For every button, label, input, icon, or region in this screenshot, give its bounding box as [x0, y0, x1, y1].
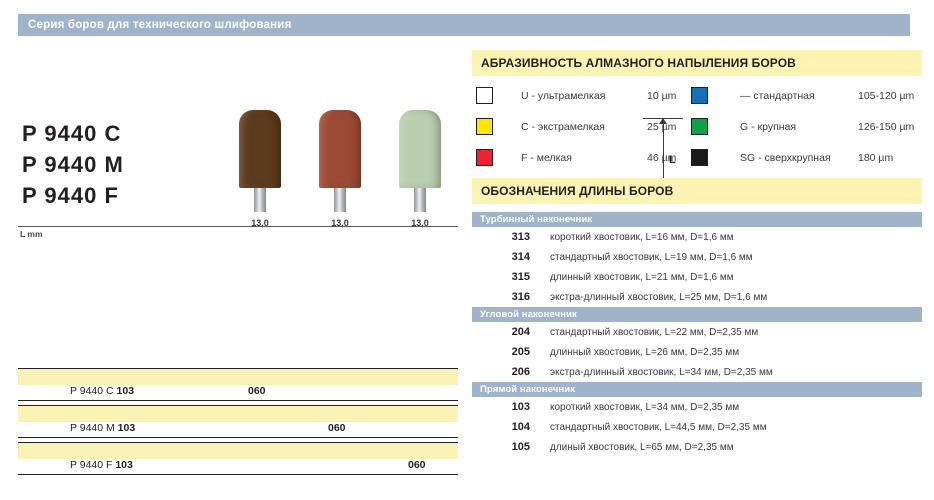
length-code: 314 [472, 251, 530, 263]
section-title: Угловой наконечник [472, 309, 577, 320]
row-size-value: 060 [408, 459, 426, 471]
legend-entry-supercoarse: SG - сверхкрупная 180 µm [687, 149, 926, 166]
section-title: Турбинный наконечник [472, 214, 592, 225]
lengths-title: ОБОЗНАЧЕНИЯ ДЛИНЫ БОРОВ [472, 184, 673, 198]
length-code: 105 [472, 441, 530, 453]
row-product-name: P 9440 C 103 [70, 385, 134, 397]
bur-shank-f [414, 188, 426, 212]
bur-head-f [399, 110, 441, 188]
length-code: 315 [472, 271, 530, 283]
row-product-name: P 9440 F 103 [70, 459, 133, 471]
product-code-m: P 9440 M [22, 149, 124, 180]
product-code-c: P 9440 C [22, 118, 124, 149]
section-header-turbine: Турбинный наконечник [472, 212, 922, 227]
table-row[interactable]: P 9440 M 103 060 [18, 405, 458, 438]
abrasiveness-title-bar: АБРАЗИВНОСТЬ АЛМАЗНОГО НАПЫЛЕНИЯ БОРОВ [472, 50, 922, 76]
row-size-value: 060 [328, 422, 346, 434]
length-description: длинный хвостовик, L=26 мм, D=2,35 мм [530, 347, 739, 358]
list-item[interactable]: 206 экстра-длинный хвостовик, L=34 мм, D… [472, 362, 922, 382]
product-code-list: P 9440 C P 9440 M P 9440 F [22, 118, 124, 211]
legend-value: 105-120 µm [858, 90, 914, 102]
legend-row: F - мелкая 46 µm SG - сверхкрупная 180 µ… [472, 142, 926, 173]
legend-entry-coarse: G - крупная 126-150 µm [687, 118, 926, 135]
length-code: 316 [472, 291, 530, 303]
legend-value: 10 µm [647, 90, 676, 102]
color-swatch-black [691, 149, 708, 166]
row-product-name: P 9440 M 103 [70, 422, 135, 434]
length-code: 104 [472, 421, 530, 433]
legend-row: C - экстрамелкая 25 µm G - крупная 126-1… [472, 111, 926, 142]
list-item[interactable]: 205 длинный хвостовик, L=26 мм, D=2,35 м… [472, 342, 922, 362]
page-title: Серия боров для технического шлифования [18, 19, 291, 31]
bur-illustration-c: 13,0 [239, 110, 281, 212]
length-designation-table: Турбинный наконечник 313 короткий хвосто… [472, 212, 922, 457]
legend-value: 46 µm [647, 152, 676, 164]
length-code: 206 [472, 366, 530, 378]
legend-entry-standard: — стандартная 105-120 µm [687, 87, 926, 104]
row-size-value: 060 [248, 385, 266, 397]
measurement-baseline [18, 226, 458, 227]
color-swatch-yellow [476, 118, 493, 135]
length-description: экстра-длинный хвостовик, L=25 мм, D=1,6… [530, 292, 767, 303]
section-header-angled: Угловой наконечник [472, 307, 922, 322]
list-item[interactable]: 315 длинный хвостовик, L=21 мм, D=1,6 мм [472, 267, 922, 287]
list-item[interactable]: 103 короткий хвостовик, L=34 мм, D=2,35 … [472, 397, 922, 417]
table-row[interactable]: P 9440 C 103 060 [18, 368, 458, 401]
length-code: 313 [472, 231, 530, 243]
length-description: экстра-длинный хвостовик, L=34 мм, D=2,3… [530, 367, 773, 378]
bur-head-c [239, 110, 281, 188]
section-header-straight: Прямой наконечник [472, 382, 922, 397]
length-description: стандартный хвостовик, L=22 мм, D=2,35 м… [530, 327, 758, 338]
legend-code: SG - сверхкрупная [708, 152, 858, 164]
legend-entry-fine: F - мелкая 46 µm [472, 149, 687, 166]
legend-row: U - ультрамелкая 10 µm — стандартная 105… [472, 80, 926, 111]
bur-head-m [319, 110, 361, 188]
list-item[interactable]: 313 короткий хвостовик, L=16 мм, D=1,6 м… [472, 227, 922, 247]
axis-label: L mm [20, 229, 43, 239]
bur-illustrations: 13,0 13,0 13,0 L [225, 100, 465, 240]
length-code: 103 [472, 401, 530, 413]
legend-entry-ultrafine: U - ультрамелкая 10 µm [472, 87, 687, 104]
legend-code: — стандартная [708, 90, 858, 102]
length-description: длиный хвостовик, L=65 мм, D=2,35 мм [530, 442, 734, 453]
legend-code: F - мелкая [493, 152, 647, 164]
list-item[interactable]: 204 стандартный хвостовик, L=22 мм, D=2,… [472, 322, 922, 342]
list-item[interactable]: 314 стандартный хвостовик, L=19 мм, D=1,… [472, 247, 922, 267]
legend-value: 25 µm [647, 121, 676, 133]
color-swatch-green [691, 118, 708, 135]
product-table: P 9440 C 103 060 P 9440 M 103 060 P 9440… [18, 368, 458, 479]
abrasiveness-legend: U - ультрамелкая 10 µm — стандартная 105… [472, 80, 926, 173]
legend-code: C - экстрамелкая [493, 121, 647, 133]
lengths-title-bar: ОБОЗНАЧЕНИЯ ДЛИНЫ БОРОВ [472, 178, 922, 204]
length-description: длинный хвостовик, L=21 мм, D=1,6 мм [530, 272, 734, 283]
list-item[interactable]: 105 длиный хвостовик, L=65 мм, D=2,35 мм [472, 437, 922, 457]
legend-code: U - ультрамелкая [493, 90, 647, 102]
list-item[interactable]: 104 стандартный хвостовик, L=44,5 мм, D=… [472, 417, 922, 437]
reference-panel: АБРАЗИВНОСТЬ АЛМАЗНОГО НАПЫЛЕНИЯ БОРОВ U… [466, 0, 934, 500]
bur-illustration-f: 13,0 [399, 110, 441, 212]
table-row[interactable]: P 9440 F 103 060 [18, 442, 458, 475]
length-description: короткий хвостовик, L=16 мм, D=1,6 мм [530, 232, 734, 243]
legend-value: 180 µm [858, 152, 893, 164]
bur-shank-c [254, 188, 266, 212]
color-swatch-red [476, 149, 493, 166]
legend-code: G - крупная [708, 121, 858, 133]
length-description: стандартный хвостовик, L=19 мм, D=1,6 мм [530, 252, 753, 263]
length-code: 205 [472, 346, 530, 358]
abrasiveness-title: АБРАЗИВНОСТЬ АЛМАЗНОГО НАПЫЛЕНИЯ БОРОВ [472, 56, 796, 70]
bur-illustration-m: 13,0 [319, 110, 361, 212]
bur-shank-m [334, 188, 346, 212]
list-item[interactable]: 316 экстра-длинный хвостовик, L=25 мм, D… [472, 287, 922, 307]
product-code-f: P 9440 F [22, 180, 124, 211]
section-title: Прямой наконечник [472, 384, 575, 395]
length-description: стандартный хвостовик, L=44,5 мм, D=2,35… [530, 422, 767, 433]
legend-value: 126-150 µm [858, 121, 914, 133]
color-swatch-white [476, 87, 493, 104]
color-swatch-blue [691, 87, 708, 104]
length-description: короткий хвостовик, L=34 мм, D=2,35 мм [530, 402, 739, 413]
legend-entry-extrafine: C - экстрамелкая 25 µm [472, 118, 687, 135]
length-code: 204 [472, 326, 530, 338]
